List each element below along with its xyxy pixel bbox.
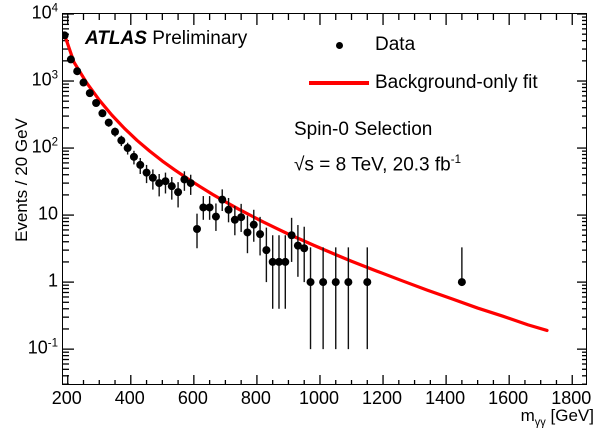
legend-entry-data: Data bbox=[303, 26, 538, 64]
x-tick-label: 1200 bbox=[362, 388, 402, 409]
figure-root: 10-1110102103104 Events / 20 GeV ATLAS P… bbox=[0, 0, 600, 436]
data-marker-icon bbox=[303, 42, 375, 49]
x-tick-label: 1400 bbox=[425, 388, 465, 409]
data-point bbox=[243, 216, 251, 254]
data-point bbox=[180, 171, 188, 191]
x-axis-title-unit: [GeV] bbox=[551, 406, 594, 425]
data-point bbox=[86, 89, 94, 97]
plot-area: ATLAS Preliminary Spin-0 Selection √s = … bbox=[62, 13, 587, 385]
x-axis-title: mγγ [GeV] bbox=[521, 406, 594, 428]
data-point bbox=[67, 55, 75, 63]
atlas-text: ATLAS bbox=[85, 28, 147, 49]
data-point bbox=[161, 173, 169, 194]
data-point bbox=[300, 227, 308, 282]
data-point bbox=[281, 235, 289, 309]
data-point bbox=[79, 79, 87, 87]
y-tick-label: 10-1 bbox=[6, 338, 58, 359]
x-axis-title-main: m bbox=[521, 406, 535, 425]
status-text: Preliminary bbox=[152, 28, 247, 49]
data-point bbox=[98, 109, 106, 117]
data-point bbox=[105, 119, 113, 127]
x-axis-title-sub: γγ bbox=[535, 416, 546, 428]
data-point bbox=[193, 214, 201, 249]
data-point bbox=[269, 235, 277, 309]
x-tick-label: 800 bbox=[241, 388, 271, 409]
data-point bbox=[62, 31, 69, 39]
data-point bbox=[143, 165, 151, 183]
legend-label-data: Data bbox=[375, 34, 415, 56]
data-point bbox=[458, 247, 466, 286]
x-tick-label: 200 bbox=[52, 388, 82, 409]
data-point bbox=[130, 151, 138, 165]
data-point bbox=[117, 136, 125, 146]
data-point bbox=[344, 247, 352, 349]
atlas-preliminary-label: ATLAS Preliminary bbox=[85, 28, 247, 50]
data-point bbox=[288, 218, 296, 262]
data-point bbox=[218, 189, 226, 211]
luminosity-label: √s = 8 TeV, 20.3 fb-1 bbox=[294, 154, 461, 176]
data-point bbox=[332, 247, 340, 349]
luminosity-exponent: -1 bbox=[451, 154, 461, 166]
data-point bbox=[275, 235, 283, 309]
legend: Data Background-only fit bbox=[303, 26, 538, 102]
x-tick-label: 400 bbox=[115, 388, 145, 409]
x-tick-label: 600 bbox=[178, 388, 208, 409]
legend-entry-fit: Background-only fit bbox=[303, 64, 538, 102]
data-point bbox=[237, 204, 245, 232]
x-tick-label: 1000 bbox=[299, 388, 339, 409]
data-point bbox=[294, 225, 302, 277]
data-point bbox=[92, 99, 100, 107]
data-point bbox=[319, 247, 327, 349]
data-point bbox=[111, 128, 119, 137]
data-point bbox=[250, 210, 258, 242]
data-point bbox=[363, 247, 371, 349]
legend-label-fit: Background-only fit bbox=[375, 72, 538, 94]
selection-label: Spin-0 Selection bbox=[294, 119, 432, 141]
luminosity-text: √s = 8 TeV, 20.3 fb bbox=[294, 154, 451, 175]
fit-line-icon bbox=[303, 81, 375, 84]
y-tick-label: 104 bbox=[6, 3, 58, 24]
data-point bbox=[307, 247, 315, 349]
y-axis-title: Events / 20 GeV bbox=[12, 70, 32, 290]
data-point bbox=[73, 67, 81, 75]
data-point bbox=[124, 143, 132, 155]
